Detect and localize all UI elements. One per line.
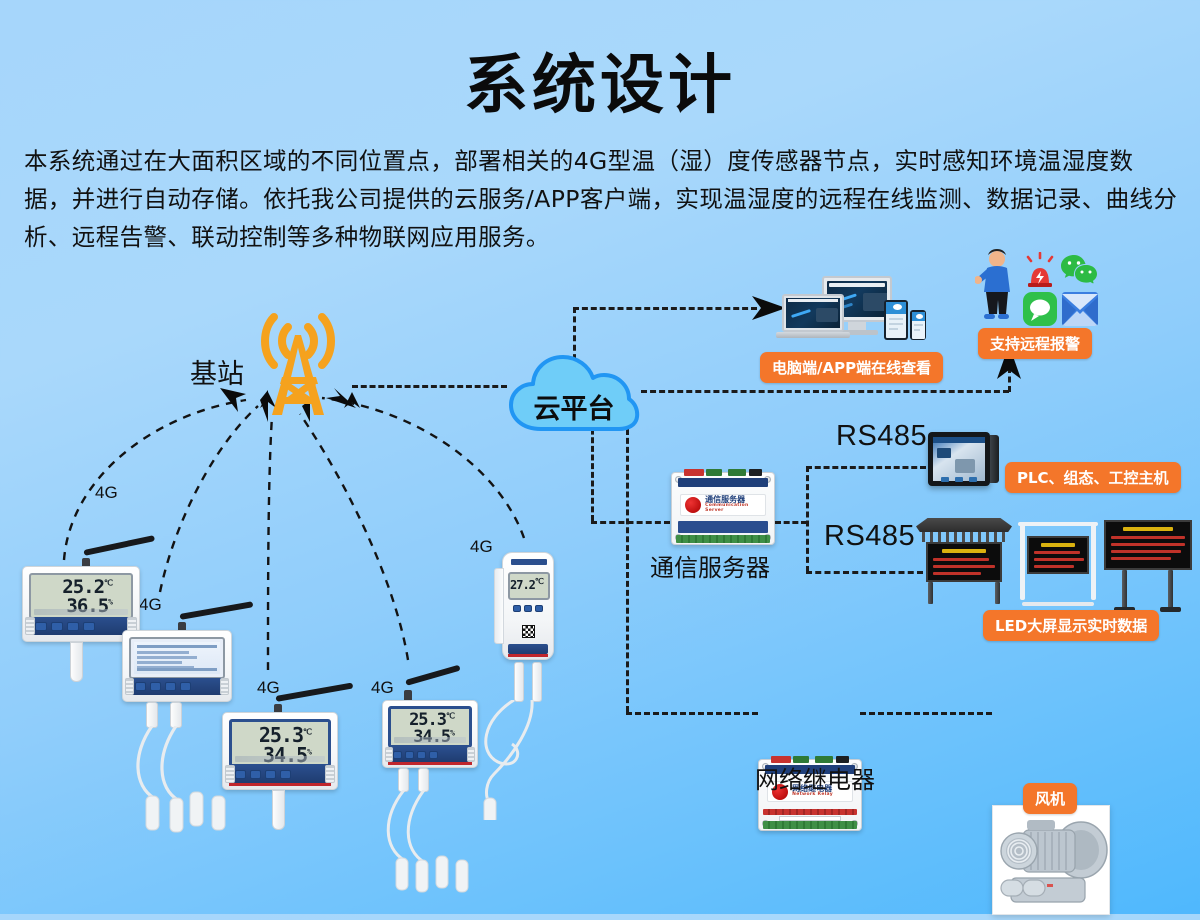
sensor-node-3[interactable]: 25.3℃ 34.5% bbox=[222, 712, 338, 790]
sensor-control-strip bbox=[129, 678, 225, 695]
frame-base bbox=[1022, 602, 1094, 606]
probe-cables bbox=[472, 700, 582, 820]
led-text-line bbox=[933, 565, 995, 568]
sensor-lcd-3: 25.3℃ 34.5% bbox=[229, 719, 331, 767]
link-rs485-bottom bbox=[806, 571, 923, 574]
led-board-framed[interactable] bbox=[1018, 514, 1098, 606]
led-display-badge: LED大屏显示实时数据 bbox=[983, 610, 1159, 641]
temp-unit-4: ℃ bbox=[446, 711, 454, 720]
communication-server-device[interactable]: 通信服务器 Communication Server bbox=[671, 472, 775, 545]
sensor-button[interactable] bbox=[67, 622, 79, 631]
sensor-button[interactable] bbox=[35, 622, 47, 631]
tag-4g-4: 4G bbox=[371, 678, 394, 698]
sensor-button[interactable] bbox=[405, 751, 414, 759]
sensor-lcd-2 bbox=[129, 637, 225, 679]
intro-paragraph: 本系统通过在大面积区域的不同位置点，部署相关的4G型温（湿）度传感器节点，实时感… bbox=[24, 142, 1180, 256]
sensor-red-line bbox=[388, 762, 472, 765]
link-commserver-out bbox=[775, 521, 807, 524]
sensor-button[interactable] bbox=[180, 682, 191, 691]
sensor-button[interactable] bbox=[393, 751, 402, 759]
person-icon bbox=[975, 248, 1019, 324]
sensor-lcd-1: 25.2℃ 36.5% bbox=[29, 573, 133, 619]
remote-alarm-badge: 支持远程报警 bbox=[978, 328, 1092, 359]
led-text-line bbox=[1034, 551, 1080, 554]
led-text-line bbox=[1034, 565, 1074, 568]
device-brand-plate: 通信服务器 Communication Server bbox=[680, 494, 766, 515]
sign-post bbox=[995, 582, 1000, 604]
sensor-probe bbox=[398, 768, 409, 792]
temp-unit-1: ℃ bbox=[104, 579, 112, 588]
wechat-icon bbox=[1061, 253, 1097, 285]
post-foot bbox=[1160, 607, 1181, 612]
roof-icon bbox=[916, 518, 1012, 532]
link-cloud-to-pc-horizontal bbox=[573, 307, 757, 310]
frame-right-post bbox=[1091, 522, 1096, 600]
humidity-value-3: 34.5% bbox=[235, 745, 325, 765]
remote-alarm-group[interactable] bbox=[975, 248, 1095, 326]
link-cloud-to-relay bbox=[626, 712, 758, 715]
sensor-probe bbox=[418, 768, 429, 792]
top-connectors bbox=[684, 469, 764, 477]
link-commserver-spine bbox=[806, 466, 809, 572]
cell-tower-icon bbox=[238, 303, 358, 419]
recorder-button[interactable] bbox=[535, 605, 543, 612]
tag-4g-1: 4G bbox=[95, 483, 118, 503]
blower-icon bbox=[993, 806, 1110, 915]
sensor-button[interactable] bbox=[250, 770, 261, 779]
recorder-brand-strip bbox=[508, 644, 548, 654]
sensor-button[interactable] bbox=[235, 770, 246, 779]
lcd-status-bar bbox=[394, 737, 466, 743]
recorder-button[interactable] bbox=[524, 605, 532, 612]
sign-post bbox=[928, 582, 933, 604]
sensor-button[interactable] bbox=[265, 770, 276, 779]
recorder-side-mount bbox=[494, 568, 504, 644]
sensor-probe bbox=[514, 662, 524, 702]
device-brand-text: 通信服务器 Communication Server bbox=[705, 496, 761, 514]
led-board-roofed[interactable] bbox=[916, 518, 1012, 604]
hmi-side-profile bbox=[990, 435, 999, 483]
tablet-icon bbox=[884, 300, 908, 340]
sensor-vent bbox=[25, 617, 35, 635]
led-text-line bbox=[1111, 550, 1181, 553]
sensor-button[interactable] bbox=[417, 751, 426, 759]
cloud-platform-label: 云平台 bbox=[507, 387, 641, 426]
sensor-node-2[interactable] bbox=[122, 630, 232, 702]
sensor-probe bbox=[146, 702, 158, 728]
plc-badge: PLC、组态、工控主机 bbox=[1005, 462, 1181, 493]
sign-post bbox=[1168, 570, 1173, 608]
sms-icon bbox=[1023, 292, 1057, 326]
temperature-value-3: 25.3℃ bbox=[235, 725, 325, 745]
sensor-button[interactable] bbox=[429, 751, 438, 759]
device-top-band bbox=[678, 478, 768, 487]
link-cloud-to-commserver bbox=[591, 521, 670, 524]
temperature-value-5: 27.2℃ bbox=[510, 574, 548, 591]
led-text-line bbox=[1111, 536, 1185, 539]
led-text-line bbox=[1111, 557, 1171, 560]
led-screen-title bbox=[1123, 527, 1173, 531]
sensor-button[interactable] bbox=[135, 682, 146, 691]
temp-unit-3: ℃ bbox=[303, 727, 311, 736]
sign-post bbox=[1122, 570, 1127, 608]
temp-unit-5: ℃ bbox=[535, 577, 543, 586]
sensor-probe bbox=[170, 702, 182, 728]
led-text-line bbox=[1111, 543, 1185, 546]
monitor-stand bbox=[848, 322, 866, 330]
sensor-button[interactable] bbox=[165, 682, 176, 691]
network-relay-label: 网络继电器 bbox=[755, 760, 875, 795]
cloud-platform[interactable]: 云平台 bbox=[507, 351, 641, 435]
led-screen bbox=[1104, 520, 1192, 570]
sensor-button[interactable] bbox=[280, 770, 291, 779]
led-screen bbox=[1027, 536, 1089, 574]
sensor-lcd-5: 27.2℃ bbox=[508, 572, 550, 600]
sensor-vent bbox=[125, 678, 134, 695]
rs485-label-top: RS485 bbox=[836, 420, 927, 453]
frame-left-post bbox=[1020, 522, 1025, 600]
sensor-vent bbox=[325, 765, 335, 783]
alarm-siren-icon bbox=[1023, 252, 1057, 288]
led-text-line bbox=[933, 572, 981, 575]
sensor-node-5[interactable]: 27.2℃ bbox=[502, 552, 554, 660]
tag-4g-2: 4G bbox=[139, 595, 162, 615]
led-screen-title bbox=[1041, 543, 1076, 547]
sensor-probe bbox=[532, 662, 542, 702]
brand-en: Communication Server bbox=[705, 504, 761, 513]
link-relay-to-fan bbox=[860, 712, 992, 715]
sensor-vent bbox=[385, 747, 393, 762]
sensor-control-strip bbox=[388, 747, 472, 762]
lcd-status-bar bbox=[34, 609, 128, 615]
sensor-vent bbox=[220, 678, 229, 695]
sensor-button[interactable] bbox=[51, 622, 63, 631]
led-text-line bbox=[933, 558, 989, 561]
fan-badge: 风机 bbox=[1023, 783, 1077, 814]
sensor-control-strip bbox=[29, 617, 133, 635]
communication-server-label: 通信服务器 bbox=[650, 548, 770, 583]
page-title: 系统设计 bbox=[0, 34, 1200, 126]
pc-app-badge: 电脑端/APP端在线查看 bbox=[760, 352, 943, 383]
hmi-panel-icon[interactable] bbox=[928, 432, 990, 486]
hum-unit-3: % bbox=[307, 747, 311, 756]
blower-image-card[interactable] bbox=[992, 805, 1110, 915]
tag-4g-5: 4G bbox=[470, 537, 493, 557]
recorder-button[interactable] bbox=[513, 605, 521, 612]
sensor-probe bbox=[272, 790, 285, 830]
frame-top-rail bbox=[1018, 522, 1098, 526]
terminal-block bbox=[763, 821, 857, 829]
laptop-base bbox=[776, 332, 850, 338]
lcd-status-bar bbox=[235, 756, 325, 762]
laptop-icon bbox=[782, 294, 844, 332]
email-icon bbox=[1062, 292, 1098, 326]
recorder-red-line bbox=[508, 654, 548, 657]
hum-unit-1: % bbox=[108, 598, 112, 607]
sensor-control-strip bbox=[229, 765, 331, 783]
hmi-title-bar bbox=[933, 437, 985, 443]
led-screen bbox=[926, 542, 1002, 582]
hum-unit-4: % bbox=[450, 728, 454, 737]
device-bottom-band bbox=[678, 521, 768, 532]
sensor-red-line bbox=[229, 783, 331, 786]
link-cloud-down-left bbox=[591, 420, 594, 521]
base-station-label: 基站 bbox=[190, 352, 244, 391]
terminal-block bbox=[676, 535, 770, 543]
qr-code-icon bbox=[522, 625, 535, 638]
link-rs485-top bbox=[806, 466, 926, 469]
diagram-canvas: 系统设计 本系统通过在大面积区域的不同位置点，部署相关的4G型温（湿）度传感器节… bbox=[0, 0, 1200, 914]
sensor-lcd-4: 25.3℃ 34.5% bbox=[388, 706, 472, 748]
brand-logo-icon bbox=[685, 497, 701, 513]
sensor-vent bbox=[225, 765, 235, 783]
led-text-line bbox=[1034, 558, 1084, 561]
link-cloud-to-alarm-horizontal bbox=[641, 390, 1009, 393]
sensor-button[interactable] bbox=[83, 622, 95, 631]
pc-app-devices[interactable] bbox=[782, 276, 922, 346]
sensor-probe bbox=[70, 642, 83, 682]
sensor-button[interactable] bbox=[150, 682, 161, 691]
recorder-header bbox=[511, 559, 547, 565]
sensor-node-4[interactable]: 25.3℃ 34.5% bbox=[382, 700, 478, 768]
phone-icon bbox=[910, 310, 926, 340]
rs485-label-bottom: RS485 bbox=[824, 520, 915, 553]
led-screen-title bbox=[942, 549, 985, 553]
led-board-tall[interactable] bbox=[1104, 520, 1192, 612]
relay-terminal-red bbox=[763, 809, 857, 815]
sign-fence bbox=[922, 532, 1006, 542]
link-cloud-down-right bbox=[626, 420, 629, 712]
